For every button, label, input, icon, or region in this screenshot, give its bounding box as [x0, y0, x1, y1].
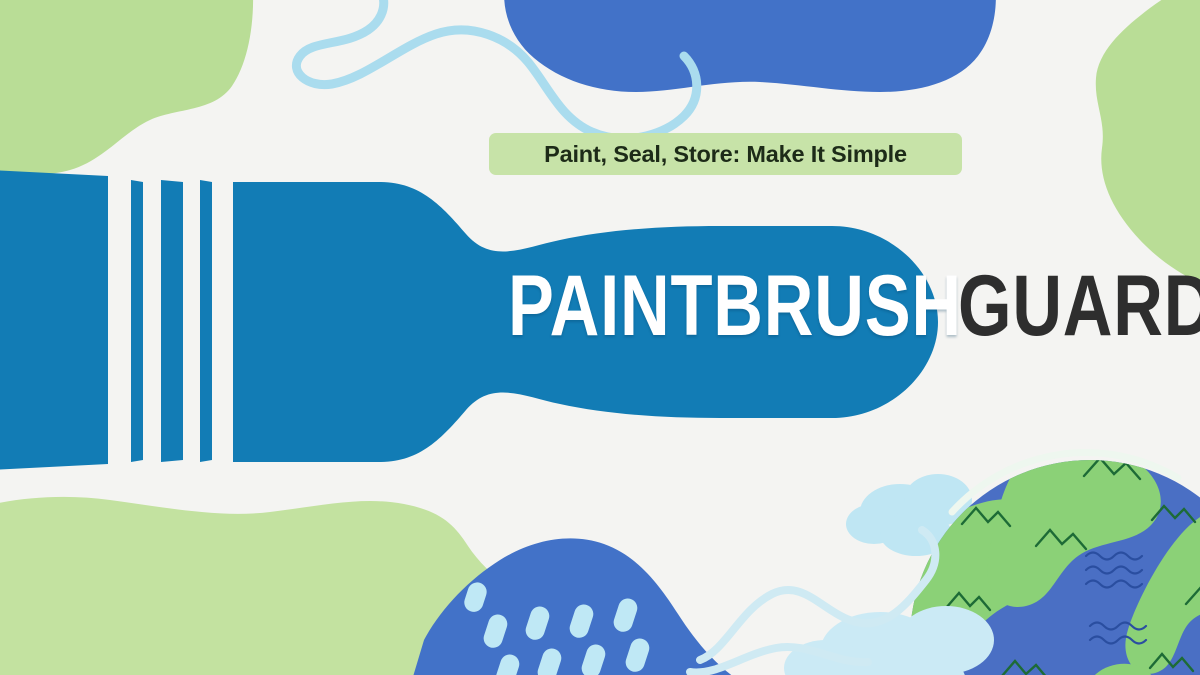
- brush-bristle-block: [0, 170, 108, 470]
- brush-stripe-2: [161, 180, 183, 462]
- blue-blob-top: [504, 0, 996, 92]
- poster-canvas: Paint, Seal, Store: Make It Simple PAINT…: [0, 0, 1200, 675]
- brush-stripe-1: [131, 180, 143, 462]
- brush-stripe-3: [200, 180, 212, 462]
- tagline-badge: Paint, Seal, Store: Make It Simple: [489, 133, 962, 175]
- tagline-text: Paint, Seal, Store: Make It Simple: [544, 141, 907, 168]
- background-artwork: [0, 0, 1200, 675]
